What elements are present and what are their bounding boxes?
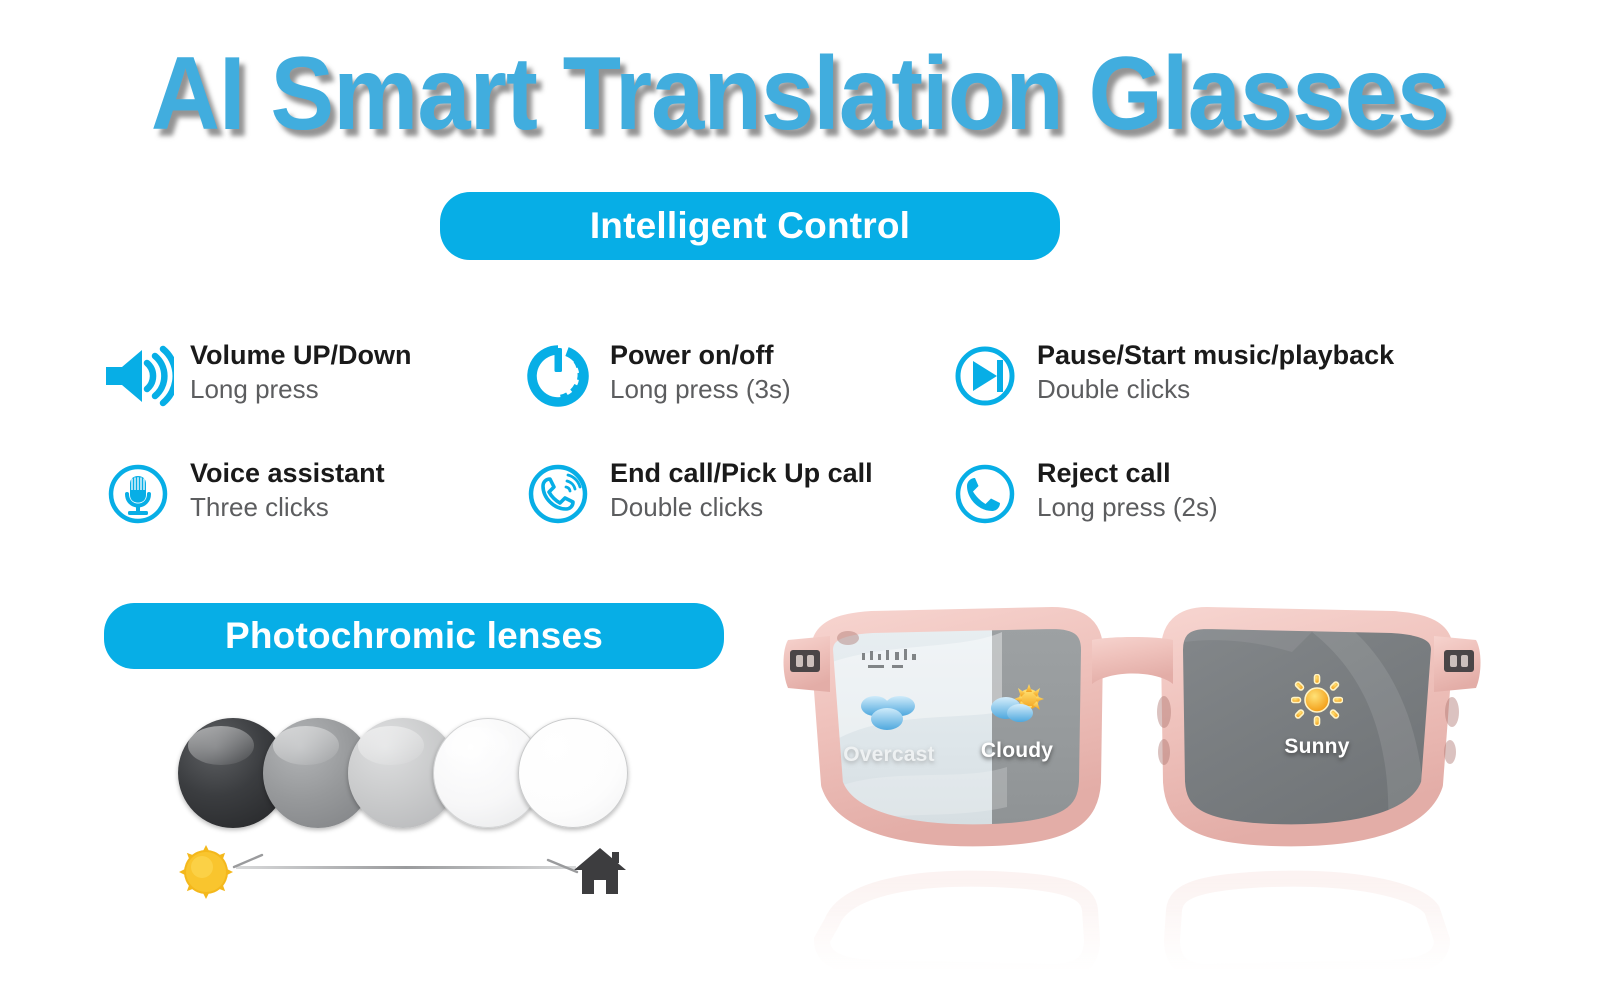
feature-subtitle: Long press (3s) [610,373,791,406]
volume-icon [100,338,176,414]
feature-subtitle: Three clicks [190,491,385,524]
feature-item-power: Power on/off Long press (3s) [520,338,791,414]
microphone-icon [100,456,176,532]
intelligent-control-banner-label: Intelligent Control [590,205,910,247]
feature-title: Pause/Start music/playback [1037,340,1394,370]
feature-title: End call/Pick Up call [610,458,873,488]
feature-subtitle: Double clicks [1037,373,1394,406]
lens-swatch-clear [518,718,628,828]
photochromic-scale [178,840,628,896]
feature-item-playback: Pause/Start music/playback Double clicks [947,338,1394,414]
feature-text: End call/Pick Up call Double clicks [610,456,873,524]
feature-subtitle: Long press [190,373,412,406]
glasses-product-photo: Overcast [752,592,1552,1000]
photochromic-lenses-banner: Photochromic lenses [104,603,724,669]
feature-item-volume: Volume UP/Down Long press [100,338,412,414]
feature-subtitle: Double clicks [610,491,873,524]
photochromic-lenses-banner-label: Photochromic lenses [225,615,603,657]
feature-title: Voice assistant [190,458,385,488]
feature-grid: Volume UP/Down Long press [92,330,1512,565]
glasses-reflection [822,879,1442,972]
lens-shade-row [178,718,628,828]
glasses-illustration [752,592,1552,1000]
phone-reject-icon [947,456,1023,532]
play-pause-icon [947,338,1023,414]
hinge-left [784,636,831,692]
page-title: AI Smart Translation Glasses [64,38,1536,150]
feature-text: Reject call Long press (2s) [1037,456,1218,524]
arrow-left-icon [230,853,264,881]
intelligent-control-banner: Intelligent Control [440,192,1060,260]
feature-item-reject-call: Reject call Long press (2s) [947,456,1218,532]
feature-item-call: End call/Pick Up call Double clicks [520,456,873,532]
feature-title: Power on/off [610,340,791,370]
feature-text: Volume UP/Down Long press [190,338,412,406]
feature-subtitle: Long press (2s) [1037,491,1218,524]
feature-text: Power on/off Long press (3s) [610,338,791,406]
infographic-page: AI Smart Translation Glasses Intelligent… [0,0,1600,1000]
scale-line [236,866,576,869]
phone-call-icon [520,456,596,532]
sun-icon [178,844,234,900]
feature-text: Pause/Start music/playback Double clicks [1037,338,1394,406]
power-icon [520,338,596,414]
feature-item-voice-assistant: Voice assistant Three clicks [100,456,385,532]
house-icon [572,842,628,898]
feature-title: Volume UP/Down [190,340,412,370]
feature-text: Voice assistant Three clicks [190,456,385,524]
hinge-right [1434,636,1481,692]
feature-title: Reject call [1037,458,1218,488]
